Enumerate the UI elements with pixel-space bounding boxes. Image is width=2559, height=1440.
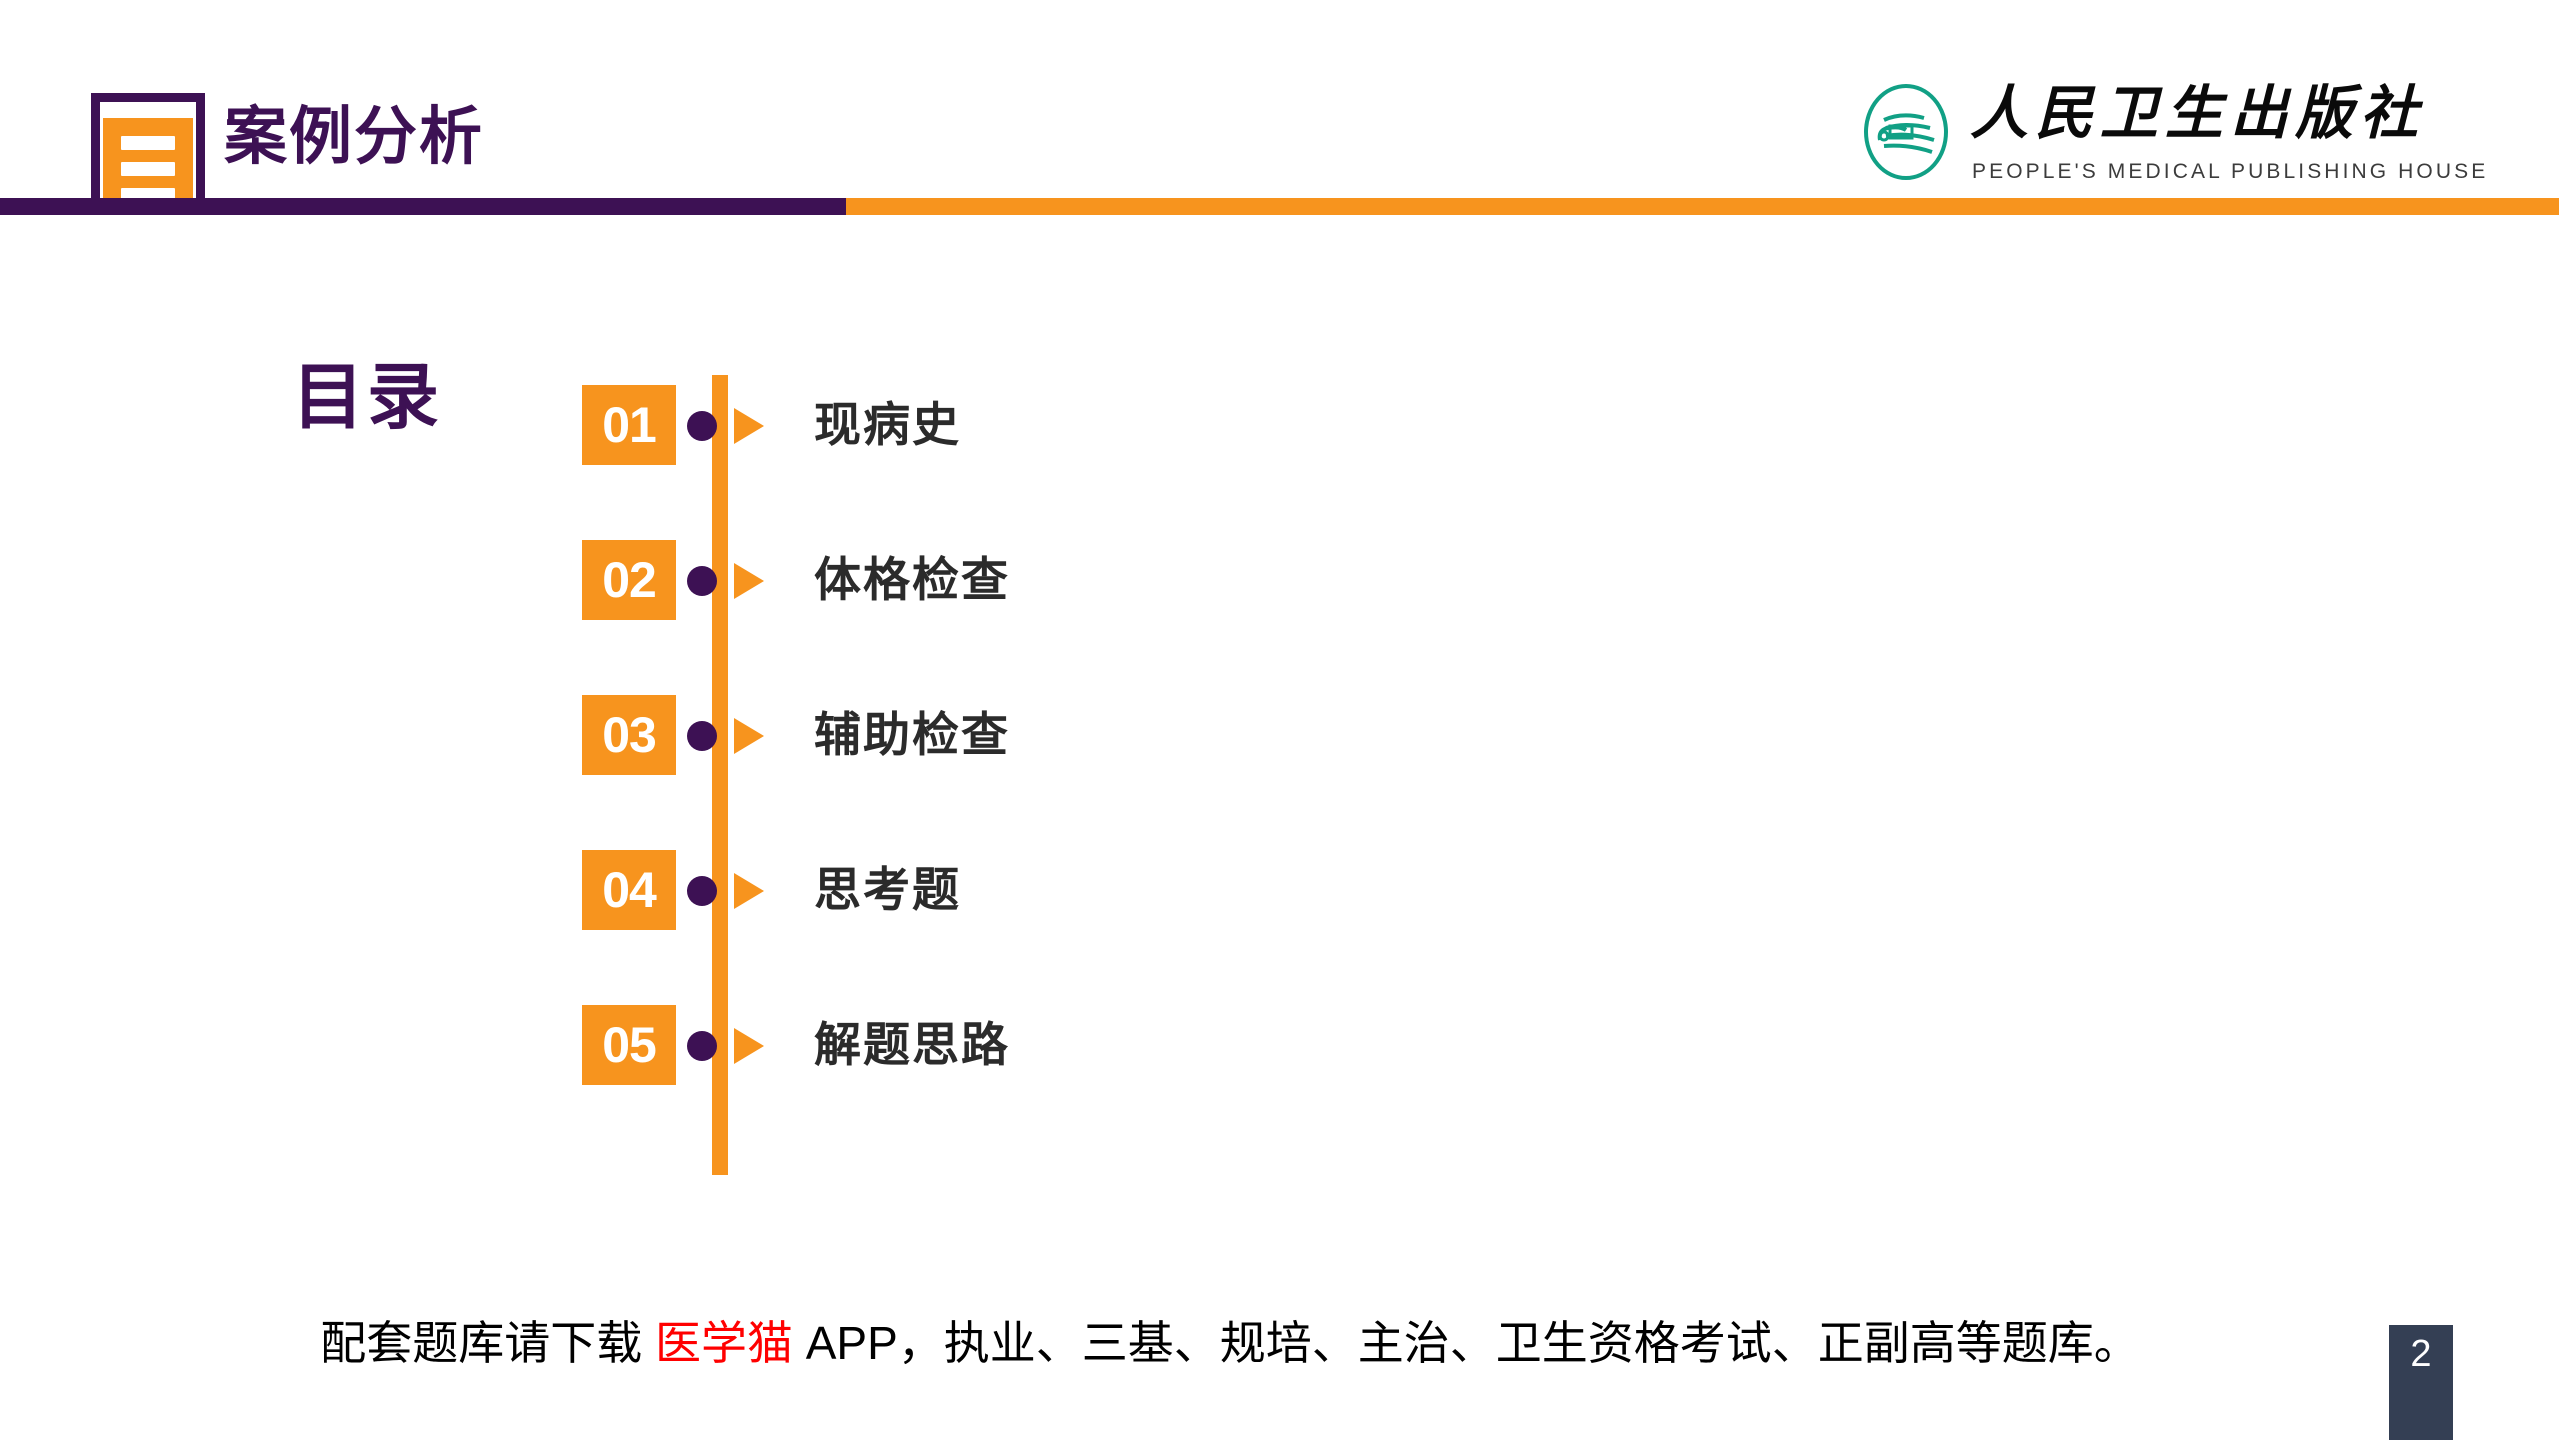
toc-item-number: 03 — [582, 695, 676, 775]
footer-highlight: 医学猫 — [655, 1317, 793, 1369]
timeline-dot-icon — [687, 566, 717, 596]
play-triangle-icon — [734, 408, 764, 444]
publisher-emblem-icon — [1860, 82, 1952, 182]
play-triangle-icon — [734, 1028, 764, 1064]
hamburger-bar-1 — [121, 136, 175, 150]
timeline-dot-icon — [687, 1031, 717, 1061]
publisher-name-cn: 人民卫生出版社 — [1970, 82, 2425, 146]
publisher-logo: 人民卫生出版社 PEOPLE'S MEDICAL PUBLISHING HOUS… — [1860, 78, 2460, 188]
toc-heading: 目录 — [292, 362, 442, 434]
timeline-dot-icon — [687, 411, 717, 441]
play-triangle-icon — [734, 718, 764, 754]
slide-root: 案例分析 人民卫生出版社 PEOPLE'S MEDICAL PUBLISHING… — [0, 0, 2559, 1440]
toc-item-number: 04 — [582, 850, 676, 930]
page-title: 案例分析 — [224, 106, 484, 169]
toc-item-label: 现病史 — [814, 394, 961, 456]
header-divider-orange — [846, 198, 2559, 215]
toc-item-number: 02 — [582, 540, 676, 620]
footer-note: 配套题库请下载 医学猫 APP，执业、三基、规培、主治、卫生资格考试、正副高等题… — [0, 1316, 2460, 1371]
page-number-badge: 2 — [2389, 1325, 2453, 1440]
play-triangle-icon — [734, 873, 764, 909]
play-triangle-icon — [734, 563, 764, 599]
toc-item-number: 01 — [582, 385, 676, 465]
timeline-dot-icon — [687, 721, 717, 751]
toc-item-number: 05 — [582, 1005, 676, 1085]
toc-timeline-line — [712, 375, 728, 1175]
hamburger-bar-2 — [121, 162, 175, 176]
toc-item-label: 辅助检查 — [814, 704, 1010, 766]
toc-item-label: 解题思路 — [814, 1014, 1010, 1076]
toc-item-label: 体格检查 — [814, 549, 1010, 611]
toc-item-label: 思考题 — [814, 859, 961, 921]
timeline-dot-icon — [687, 876, 717, 906]
footer-text-after: APP，执业、三基、规培、主治、卫生资格考试、正副高等题库。 — [806, 1317, 2140, 1369]
publisher-name-en: PEOPLE'S MEDICAL PUBLISHING HOUSE — [1972, 160, 2488, 184]
header-divider-purple — [0, 198, 846, 215]
footer-text-before: 配套题库请下载 — [320, 1317, 642, 1369]
